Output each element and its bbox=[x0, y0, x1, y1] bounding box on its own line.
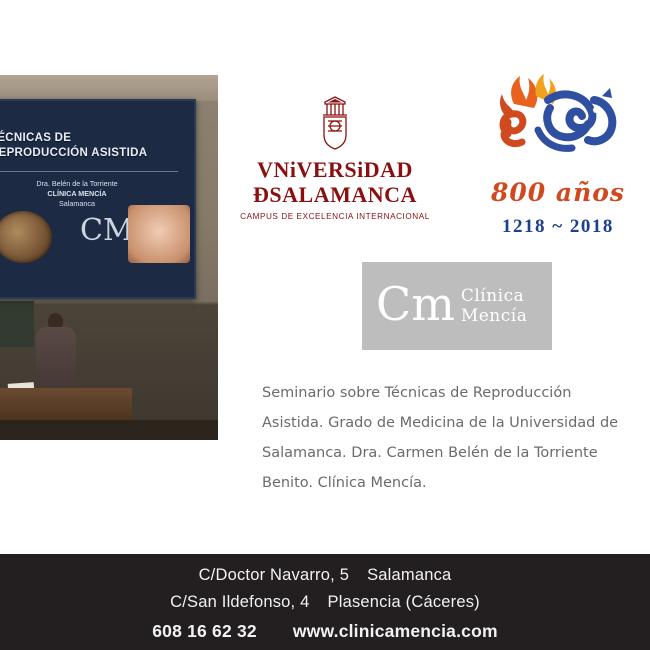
clinic-cm-monogram-icon: Cm bbox=[376, 281, 455, 327]
slide-title: TÉCNICAS DE REPRODUCCIÓN ASISTIDA bbox=[0, 131, 170, 161]
seminar-description: Seminario sobre Técnicas de Reproducción… bbox=[262, 378, 650, 498]
slide-clinic: CLÍNICA MENCÍA bbox=[2, 189, 152, 199]
footer-address-row-1: C/Doctor Navarro, 5Salamanca bbox=[0, 566, 650, 585]
photo-floor bbox=[0, 420, 218, 440]
slide-presenter: Dra. Belén de la Torriente bbox=[2, 179, 152, 189]
slide-cm-logo: CM bbox=[80, 213, 134, 248]
contact-footer: C/Doctor Navarro, 5Salamanca C/San Ildef… bbox=[0, 554, 650, 650]
usal-800-anniversary-emblem: 800 años 1218 ~ 2018 bbox=[478, 70, 638, 260]
slide-divider bbox=[0, 171, 178, 172]
embryo-image bbox=[0, 211, 52, 263]
footer-address-1: C/Doctor Navarro, 5 bbox=[199, 566, 350, 584]
clinic-name-line2: Mencía bbox=[461, 306, 528, 326]
footer-city-1: Salamanca bbox=[367, 566, 451, 584]
university-crest-icon bbox=[312, 95, 358, 151]
lecture-desk bbox=[0, 388, 132, 422]
lecture-photo: TÉCNICAS DE REPRODUCCIÓN ASISTIDA Dra. B… bbox=[0, 75, 218, 440]
footer-address-2: C/San Ildefonso, 4 bbox=[170, 593, 309, 611]
slide-title-line1: TÉCNICAS DE bbox=[0, 132, 71, 144]
emblem-anos-text: 800 años bbox=[478, 178, 638, 207]
baby-image bbox=[128, 205, 190, 263]
photo-chalkboard bbox=[0, 301, 34, 347]
footer-website-link[interactable]: www.clinicamencia.com bbox=[293, 621, 498, 641]
description-line-1: Seminario sobre Técnicas de Reproducción bbox=[262, 378, 650, 408]
clinic-name: Clínica Mencía bbox=[461, 286, 528, 326]
usal-line2: ÐSALAMANCA bbox=[236, 182, 434, 207]
usal-tagline: CAMPUS DE EXCELENCIA INTERNACIONAL bbox=[236, 212, 434, 221]
emblem-years-text: 1218 ~ 2018 bbox=[478, 216, 638, 238]
description-line-4: Benito. Clínica Mencía. bbox=[262, 468, 650, 498]
description-line-2: Asistida. Grado de Medicina de la Univer… bbox=[262, 408, 650, 438]
footer-address-row-2: C/San Ildefonso, 4Plasencia (Cáceres) bbox=[0, 593, 650, 612]
projection-screen: TÉCNICAS DE REPRODUCCIÓN ASISTIDA Dra. B… bbox=[0, 99, 196, 299]
photo-ceiling bbox=[0, 75, 218, 101]
clinic-name-line1: Clínica bbox=[461, 286, 528, 306]
usal-800-dragon-icon bbox=[478, 70, 638, 190]
slide-title-line2: REPRODUCCIÓN ASISTIDA bbox=[0, 147, 147, 159]
footer-contact-row: 608 16 62 32www.clinicamencia.com bbox=[0, 621, 650, 642]
clinica-mencia-logo-box: Cm Clínica Mencía bbox=[362, 262, 552, 350]
usal-logo: VNiVERSiDAD ÐSALAMANCA CAMPUS DE EXCELEN… bbox=[236, 95, 434, 221]
usal-line1: VNiVERSiDAD bbox=[236, 157, 434, 182]
footer-city-2: Plasencia (Cáceres) bbox=[328, 593, 480, 611]
footer-phone[interactable]: 608 16 62 32 bbox=[152, 621, 257, 641]
description-line-3: Salamanca. Dra. Carmen Belén de la Torri… bbox=[262, 438, 650, 468]
